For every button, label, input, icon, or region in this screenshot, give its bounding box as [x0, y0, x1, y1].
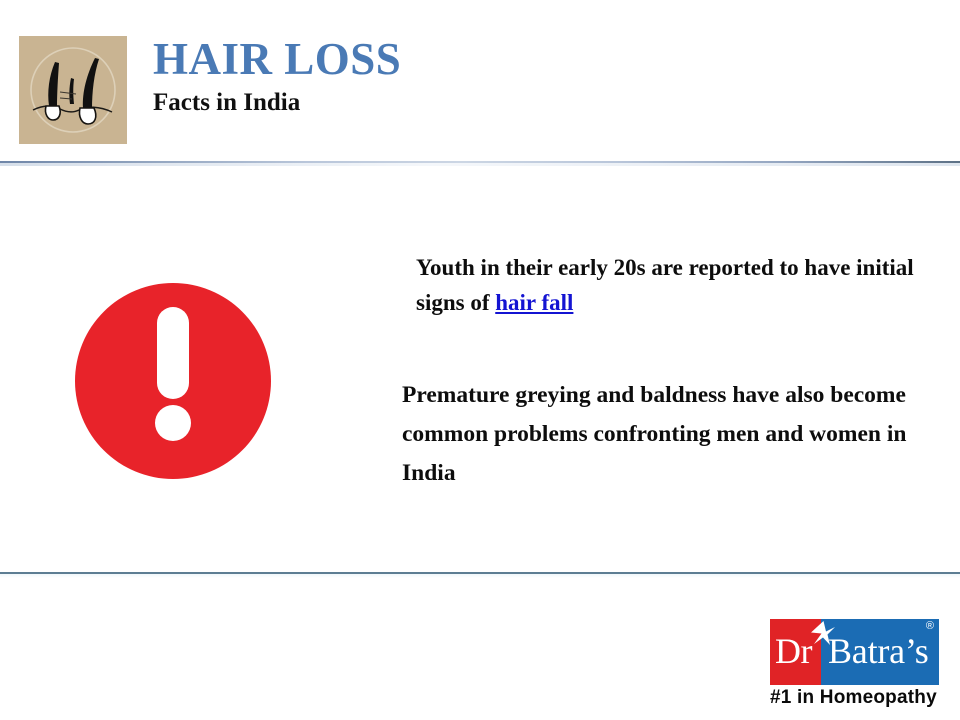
dr-batras-wordmark: Dr Batra’s ®: [770, 619, 939, 685]
header-divider-glow: [0, 163, 960, 166]
footer-divider-glow: [0, 574, 960, 578]
dr-batras-logo: Dr Batra’s ® #1 in Homeopathy: [770, 619, 939, 711]
logo-name-text: Batra’s: [828, 633, 929, 669]
hair-fall-link[interactable]: hair fall: [495, 290, 573, 315]
fact-text-leading: Youth in their early 20s are reported to…: [416, 255, 914, 315]
slide-header: HAIR LOSS Facts in India: [0, 0, 960, 162]
alert-exclamation-icon: [73, 281, 273, 481]
title-block: HAIR LOSS Facts in India: [153, 34, 753, 118]
registered-trademark-mark: ®: [926, 621, 934, 632]
hair-follicle-logo: [19, 36, 127, 144]
facts-list: Youth in their early 20s are reported to…: [402, 250, 950, 493]
page-subtitle: Facts in India: [153, 88, 753, 118]
page-title: HAIR LOSS: [153, 34, 753, 84]
fact-item-premature-greying: Premature greying and baldness have also…: [402, 320, 950, 493]
sparkle-star-icon: [810, 620, 836, 646]
fact-item-youth-hair-fall: Youth in their early 20s are reported to…: [402, 250, 950, 320]
slide-canvas: HAIR LOSS Facts in India Youth in their …: [0, 0, 960, 720]
exclamation-circle-icon: [73, 281, 273, 481]
logo-prefix-text: Dr: [775, 633, 812, 669]
logo-tagline: #1 in Homeopathy: [770, 687, 939, 709]
hair-follicle-icon: [19, 36, 127, 144]
